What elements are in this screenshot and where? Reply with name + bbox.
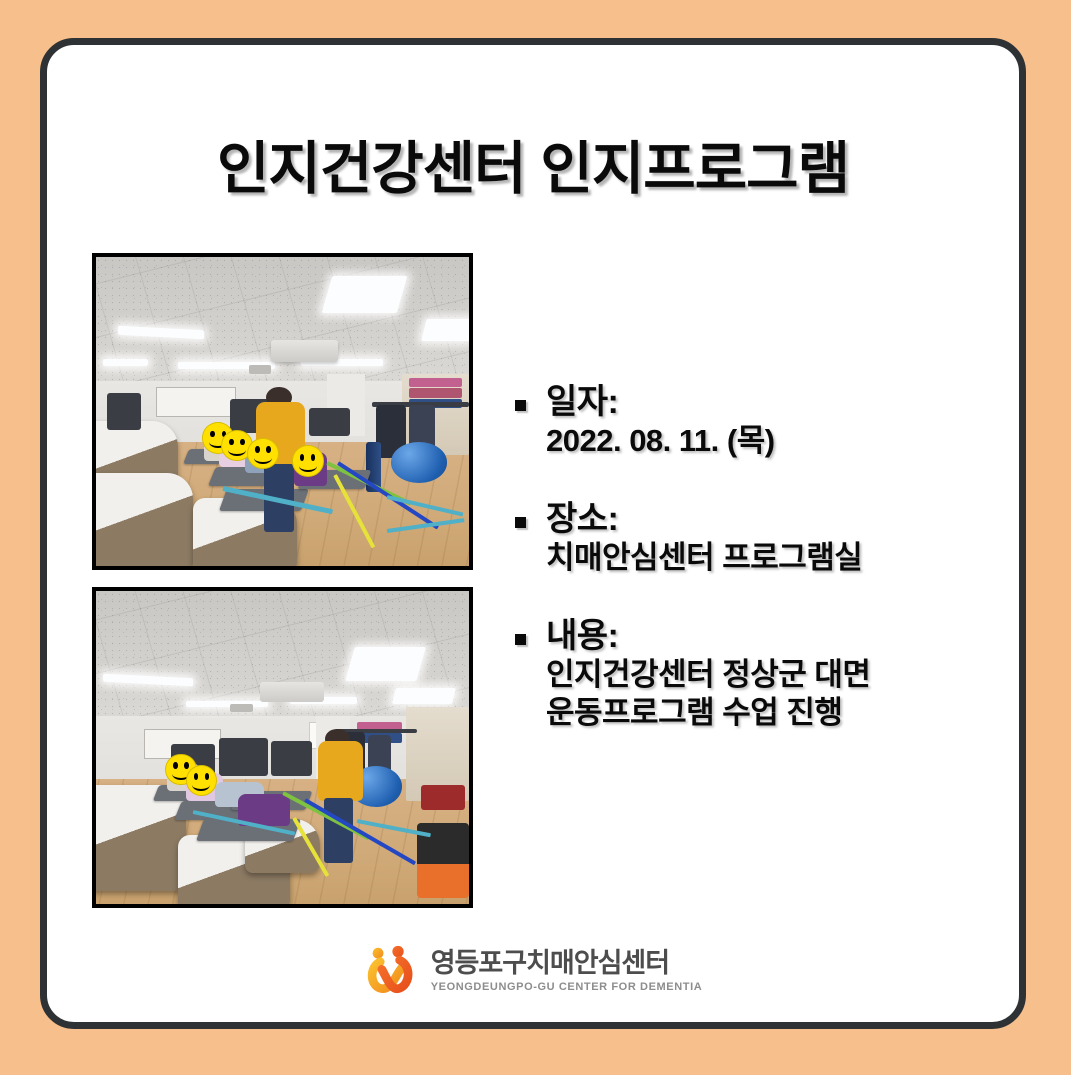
detail-body: 장소: 치매안심센터 프로그램실 xyxy=(546,500,985,577)
rolled-mats xyxy=(409,378,461,387)
detail-item-place: 장소: 치매안심센터 프로그램실 xyxy=(515,500,985,577)
detail-label: 일자: xyxy=(546,383,985,422)
face-blur-smiley-icon xyxy=(247,438,279,469)
ceiling-light xyxy=(392,688,456,704)
projector xyxy=(249,365,271,374)
wall-screen xyxy=(156,387,236,417)
exercise-machine xyxy=(309,408,350,436)
bullet-square-icon xyxy=(515,517,526,528)
ceiling-light xyxy=(186,701,268,708)
bullet-square-icon xyxy=(515,634,526,645)
detail-value: 치매안심센터 프로그램실 xyxy=(546,539,985,577)
massage-chair xyxy=(96,785,186,891)
detail-value-line-1: 인지건강센터 정상군 대면 xyxy=(546,656,985,694)
detail-body: 일자: 2022. 08. 11. (목) xyxy=(546,383,985,460)
exercise-machine xyxy=(219,738,267,776)
poster-card: 인지건강센터 인지프로그램 xyxy=(40,38,1026,1029)
detail-label: 장소: xyxy=(546,500,985,539)
footer-logo: 영등포구치매안심센터 YEONGDEUNGPO-GU CENTER FOR DE… xyxy=(47,944,1019,998)
logo-text-block: 영등포구치매안심센터 YEONGDEUNGPO-GU CENTER FOR DE… xyxy=(431,950,703,993)
center-logo-icon xyxy=(364,944,418,998)
photo-exercise-room-standing-trainer xyxy=(92,253,473,570)
ceiling-light xyxy=(422,319,469,341)
dumbbell-set xyxy=(421,785,466,810)
detail-item-date: 일자: 2022. 08. 11. (목) xyxy=(515,383,985,460)
exercise-ball xyxy=(391,442,447,482)
logo-subtitle: YEONGDEUNGPO-GU CENTER FOR DEMENTIA xyxy=(431,982,703,993)
ceiling-aircon xyxy=(260,682,323,702)
photo-2-scene xyxy=(96,591,469,904)
projector xyxy=(230,704,252,713)
detail-body: 내용: 인지건강센터 정상군 대면 운동프로그램 수업 진행 xyxy=(546,617,985,732)
detail-item-content: 내용: 인지건강센터 정상군 대면 운동프로그램 수업 진행 xyxy=(515,617,985,732)
ceiling-light xyxy=(322,276,407,313)
ceiling-aircon xyxy=(271,340,338,362)
massage-chair xyxy=(96,473,193,566)
exercise-machine xyxy=(107,393,141,430)
bullet-square-icon xyxy=(515,400,526,411)
photo-1-scene xyxy=(96,257,469,566)
face-blur-smiley-icon xyxy=(292,445,324,476)
rolled-mats xyxy=(409,388,461,397)
ceiling-light xyxy=(345,647,426,681)
details-list: 일자: 2022. 08. 11. (목) 장소: 치매안심센터 프로그램실 내… xyxy=(515,383,985,772)
page-title: 인지건강센터 인지프로그램 xyxy=(47,123,1019,205)
ceiling-light xyxy=(103,359,148,366)
detail-label: 내용: xyxy=(546,617,985,656)
logo-title: 영등포구치매안심센터 xyxy=(431,950,703,977)
trainer-shirt xyxy=(318,741,363,800)
photo-exercise-room-stretching xyxy=(92,587,473,908)
detail-value-line-2: 운동프로그램 수업 진행 xyxy=(546,694,985,732)
detail-value: 2022. 08. 11. (목) xyxy=(546,422,985,460)
exercise-machine xyxy=(271,741,312,775)
